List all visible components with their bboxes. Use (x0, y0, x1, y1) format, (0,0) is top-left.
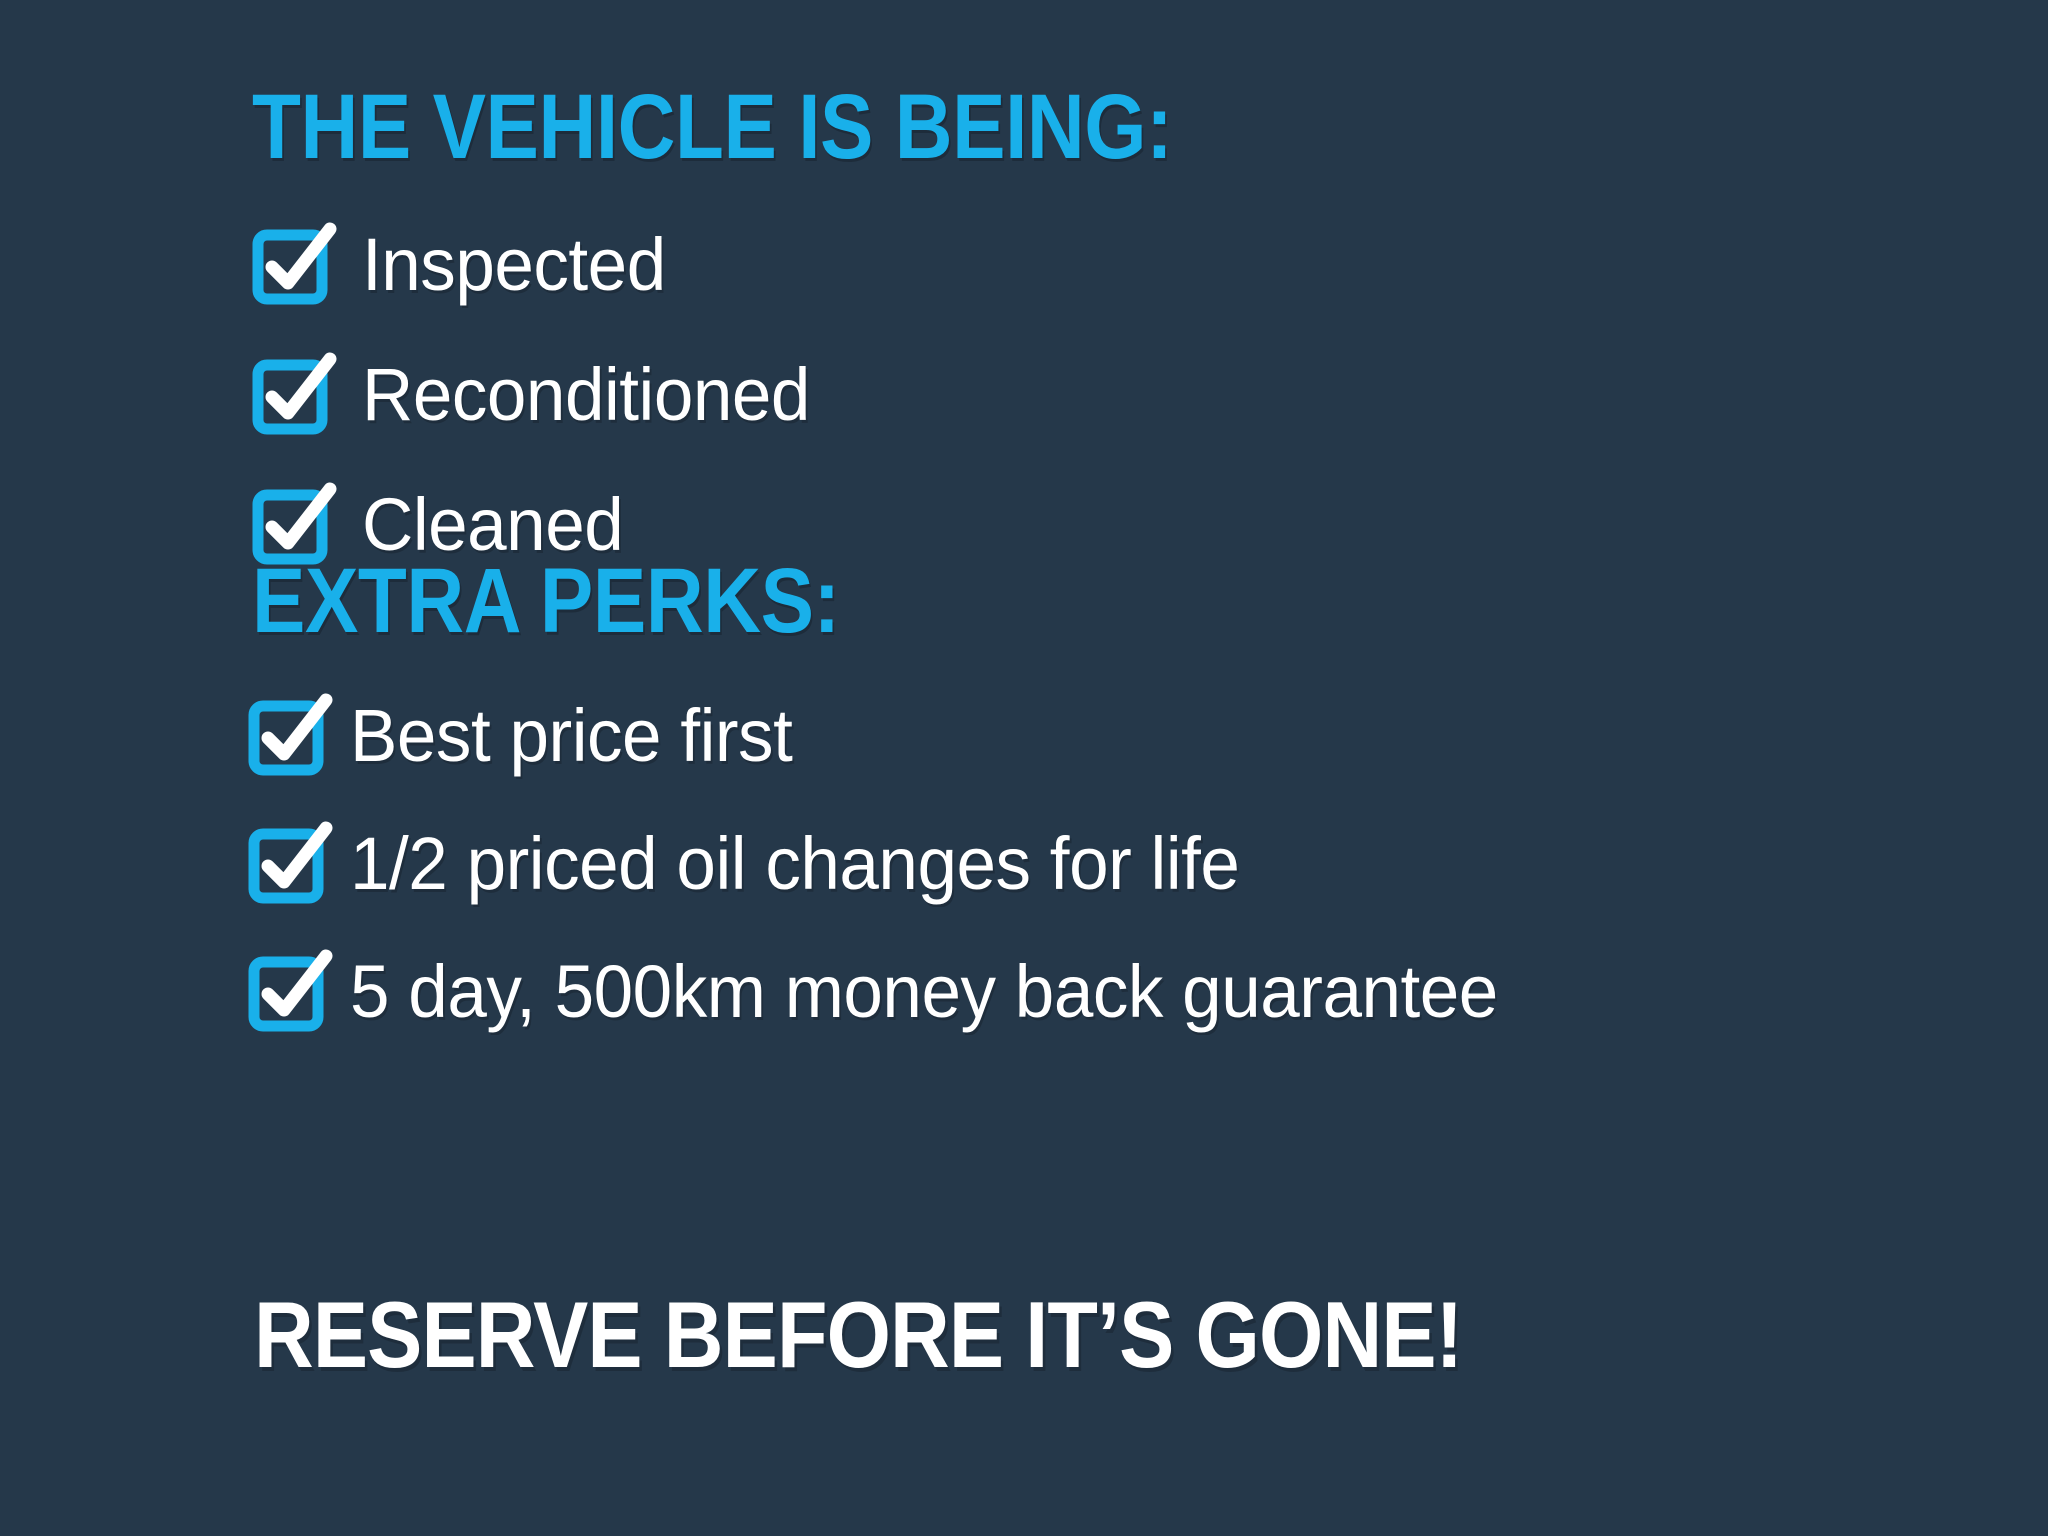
list-item-label: Inspected (362, 228, 666, 302)
list-item: Best price first (244, 672, 1546, 800)
list-item-label: 5 day, 500km money back guarantee (350, 955, 1498, 1029)
vehicle-section-heading: THE VEHICLE IS BEING: (252, 84, 1172, 171)
vehicle-section-heading-wrap: THE VEHICLE IS BEING: (252, 84, 1310, 171)
perks-section-heading: EXTRA PERKS: (252, 558, 840, 645)
poster-content: THE VEHICLE IS BEING: Inspected (252, 0, 1952, 1536)
list-item: Inspected (248, 200, 829, 330)
list-item-label: Reconditioned (362, 358, 810, 432)
perks-checklist: Best price first 1/2 priced oil changes … (244, 672, 1546, 1056)
list-item: 1/2 priced oil changes for life (244, 800, 1546, 928)
list-item: 5 day, 500km money back guarantee (244, 928, 1546, 1056)
list-item-label: Best price first (350, 699, 792, 773)
checkbox-checked-icon (244, 944, 340, 1040)
checkbox-checked-icon (248, 347, 344, 443)
cta-headline-wrap: RESERVE BEFORE IT’S GONE! (254, 1290, 1627, 1379)
perks-section-heading-wrap: EXTRA PERKS: (252, 558, 928, 645)
checkbox-checked-icon (244, 688, 340, 784)
promo-poster: THE VEHICLE IS BEING: Inspected (0, 0, 2048, 1536)
checkbox-checked-icon (248, 217, 344, 313)
cta-headline: RESERVE BEFORE IT’S GONE! (254, 1290, 1462, 1379)
vehicle-checklist: Inspected Reconditioned (248, 200, 829, 590)
list-item: Reconditioned (248, 330, 829, 460)
list-item-label: 1/2 priced oil changes for life (350, 827, 1239, 901)
checkbox-checked-icon (244, 816, 340, 912)
